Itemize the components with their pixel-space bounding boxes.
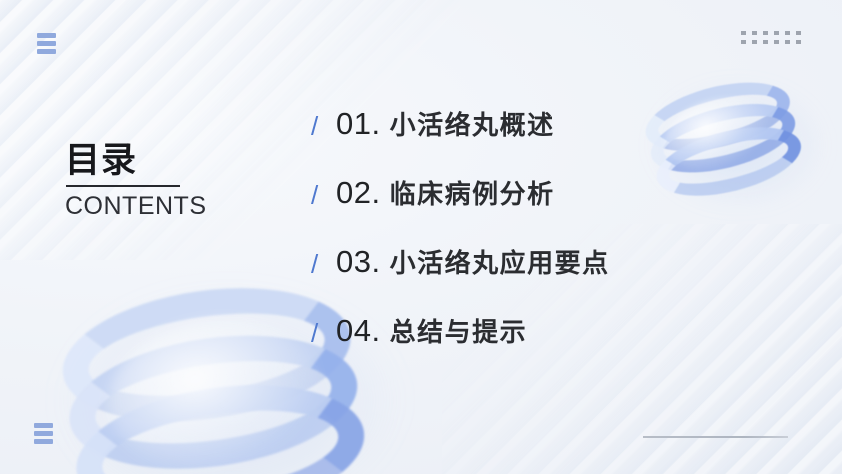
slide-canvas: 目录 CONTENTS / 01. 小活络丸概述 / 02. 临床病例分析 / … — [0, 0, 842, 474]
bar-segment — [34, 423, 53, 428]
contents-item-number: 04. — [336, 315, 381, 346]
contents-item-number: 03. — [336, 246, 381, 277]
dot — [752, 31, 757, 35]
dot-grid-icon-top-right — [741, 31, 801, 44]
page-subtitle: CONTENTS — [65, 191, 295, 221]
dot — [785, 31, 790, 35]
decorative-rule-bottom-right — [643, 436, 788, 438]
bar-segment — [34, 431, 53, 436]
hamburger-bars-icon-top-left — [37, 33, 56, 54]
contents-item-label: 总结与提示 — [390, 319, 528, 345]
dot — [774, 40, 779, 44]
slash-icon: / — [311, 251, 336, 277]
slash-icon: / — [311, 113, 336, 139]
page-title: 目录 — [65, 140, 295, 182]
contents-item-label: 小活络丸应用要点 — [390, 250, 610, 276]
contents-item-number: 01. — [336, 108, 381, 139]
dot — [785, 40, 790, 44]
contents-item-label: 临床病例分析 — [390, 181, 555, 207]
coil-highlight — [98, 306, 332, 474]
hamburger-bars-icon-bottom-left — [34, 423, 53, 444]
dot — [796, 31, 801, 35]
dot — [796, 40, 801, 44]
bar-segment — [37, 41, 56, 46]
contents-list: / 01. 小活络丸概述 / 02. 临床病例分析 / 03. 小活络丸应用要点… — [311, 108, 781, 384]
bar-segment — [34, 439, 53, 444]
bar-segment — [37, 33, 56, 38]
contents-item-03[interactable]: / 03. 小活络丸应用要点 — [311, 246, 781, 315]
title-underline — [66, 185, 180, 187]
coil-loop — [68, 368, 373, 474]
slash-icon: / — [311, 320, 336, 346]
dot — [763, 40, 768, 44]
contents-item-label: 小活络丸概述 — [390, 112, 555, 138]
contents-item-number: 02. — [336, 177, 381, 208]
dot — [741, 40, 746, 44]
bar-segment — [37, 49, 56, 54]
contents-item-04[interactable]: / 04. 总结与提示 — [311, 315, 781, 384]
slash-icon: / — [311, 182, 336, 208]
dot — [752, 40, 757, 44]
dot — [774, 31, 779, 35]
dot — [741, 31, 746, 35]
contents-item-02[interactable]: / 02. 临床病例分析 — [311, 177, 781, 246]
dot — [763, 31, 768, 35]
contents-item-01[interactable]: / 01. 小活络丸概述 — [311, 108, 781, 177]
page-title-block: 目录 CONTENTS — [65, 140, 295, 221]
